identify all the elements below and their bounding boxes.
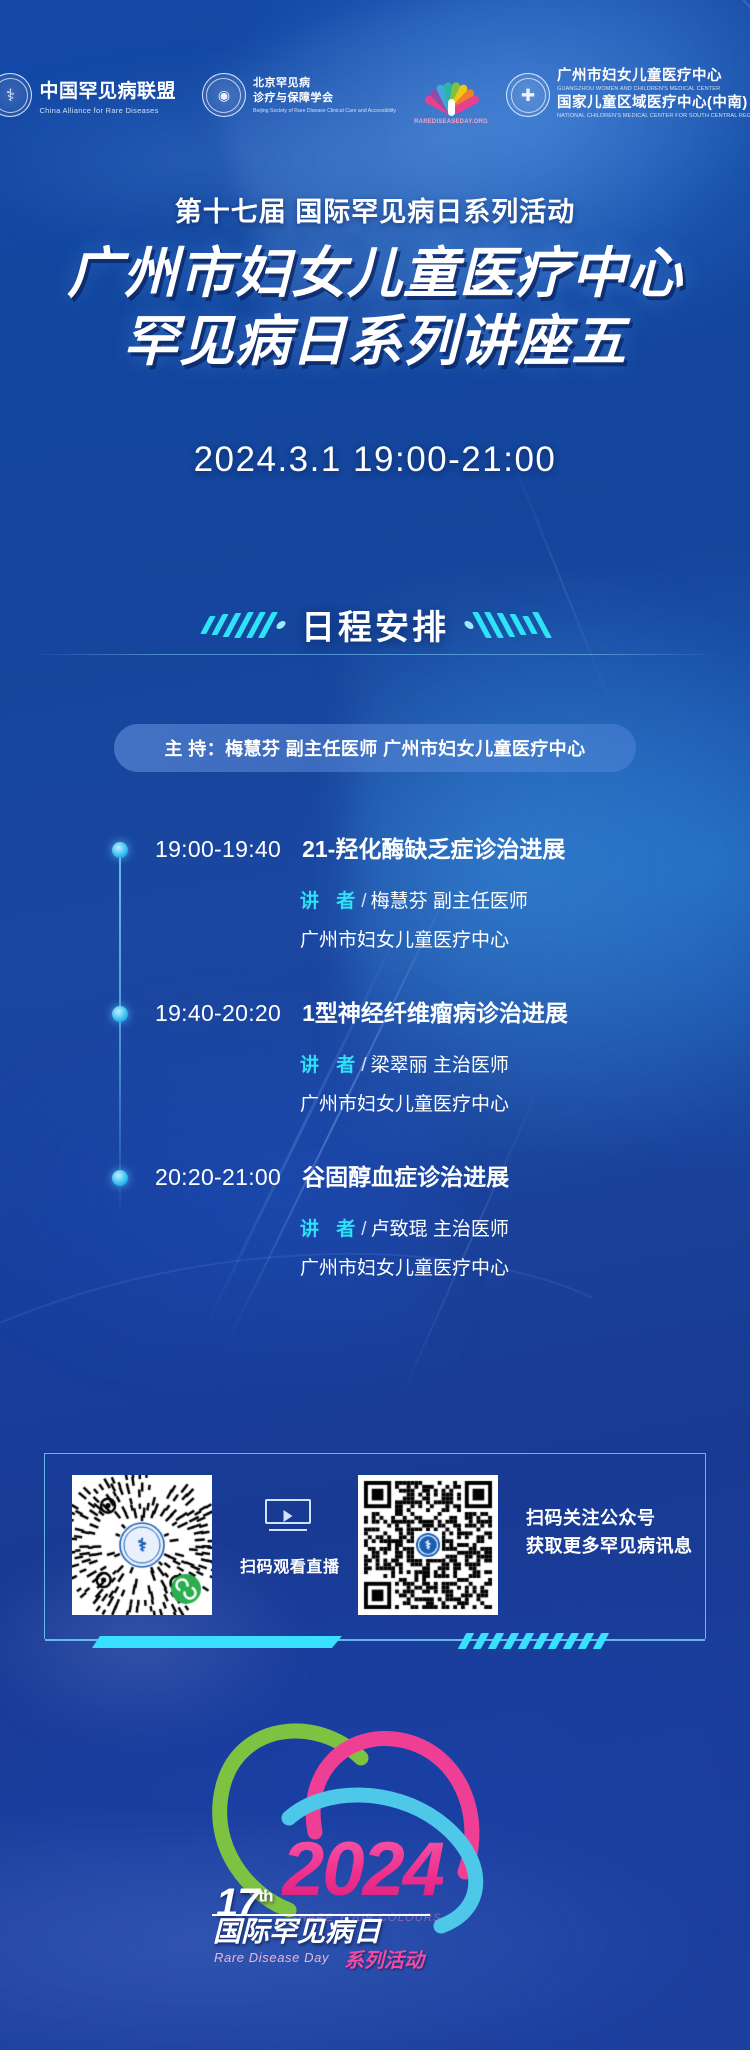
speaker-name: 梁翠丽 主治医师 xyxy=(371,1055,509,1076)
logo-label-cn: 中国罕见病联盟 xyxy=(39,76,176,103)
logo-label-cn-line2: 国家儿童区域医疗中心(中南) xyxy=(557,95,750,112)
logo-label-en: China Alliance for Rare Diseases xyxy=(39,106,176,115)
logo-label-en-line2: NATIONAL CHILDREN'S MEDICAL CENTER FOR S… xyxy=(557,113,750,119)
emblem-en-title: Rare Disease Day xyxy=(214,1950,329,1965)
agenda-item: 20:20-21:00 谷固醇血症诊治进展 讲 者/卢致琨 主治医师 广州市妇女… xyxy=(0,1158,750,1280)
live-stream-label: 扫码观看直播 xyxy=(240,1553,336,1577)
left-stripe-decoration xyxy=(205,612,285,638)
sponsor-logo-bar: ⚕ 中国罕见病联盟 China Alliance for Rare Diseas… xyxy=(0,56,750,134)
agenda-item: 19:40-20:20 1型神经纤维瘤病诊治进展 讲 者/梁翠丽 主治医师 广州… xyxy=(0,994,750,1116)
brain-seal-icon: ◉ xyxy=(202,73,246,117)
event-title-line-2: 罕见病日系列讲座五 xyxy=(0,296,750,376)
agenda-item-time: 20:20-21:00 xyxy=(155,1164,281,1191)
speaker-separator: / xyxy=(361,891,366,912)
live-qr-canvas[interactable] xyxy=(72,1475,212,1615)
timeline-dot-icon xyxy=(112,1170,128,1186)
qr-panel: 扫码观看直播 扫码关注公众号 获取更多罕见病讯息 xyxy=(44,1453,706,1639)
colored-hands-icon: RAREDISEASEDAY.ORG xyxy=(422,69,480,121)
follow-line-1: 扫码关注公众号 xyxy=(526,1505,693,1533)
host-text: 主 持：梅慧芬 副主任医师 广州市妇女儿童医疗中心 xyxy=(164,735,585,761)
speaker-label: 讲 者 xyxy=(300,1055,361,1076)
play-video-icon xyxy=(265,1499,311,1531)
rare-disease-day-url: RAREDISEASEDAY.ORG xyxy=(414,119,488,125)
emblem-cn-title: 国际罕见病日 xyxy=(213,1918,381,1946)
timeline-dot-icon xyxy=(112,1006,128,1022)
speaker-label: 讲 者 xyxy=(300,1219,361,1240)
official-account-qr-code[interactable] xyxy=(358,1475,498,1615)
event-subtitle: 第十七届 国际罕见病日系列活动 xyxy=(0,190,750,229)
rare-disease-day-emblem: 2024 SHARE YOUR COLOURS 17th 国际罕见病日 Rare… xyxy=(0,1700,750,2020)
agenda-item-topic: 21-羟化酶缺乏症诊治进展 xyxy=(302,830,565,864)
frame-notch-right-decoration xyxy=(458,1633,677,1649)
live-stream-qr-code[interactable] xyxy=(72,1475,212,1615)
speaker-label: 讲 者 xyxy=(300,891,361,912)
logo-guangzhou-women-and-childrens-medical-center: ✚ 广州市妇女儿童医疗中心 GUANGZHOU WOMEN AND CHILDR… xyxy=(506,68,750,121)
logo-beijing-society-of-rare-disease: ◉ 北京罕见病 诊疗与保障学会 Beijing Society of Rare … xyxy=(202,73,396,117)
speaker-name: 梅慧芬 副主任医师 xyxy=(371,891,528,912)
section-divider xyxy=(28,654,722,655)
logo-rare-disease-day-hands: RAREDISEASEDAY.ORG xyxy=(422,69,480,121)
follow-cta: 扫码关注公众号 获取更多罕见病讯息 xyxy=(526,1505,693,1561)
timeline-dot-icon xyxy=(112,842,128,858)
agenda-timeline: 19:00-19:40 21-羟化酶缺乏症诊治进展 讲 者/梅慧芬 副主任医师 … xyxy=(0,830,750,1280)
follow-line-2: 获取更多罕见病讯息 xyxy=(526,1533,693,1561)
logo-label-cn-line1: 广州市妇女儿童医疗中心 xyxy=(557,68,750,85)
agenda-item-topic: 1型神经纤维瘤病诊治进展 xyxy=(302,994,568,1028)
logo-label-en-line1: GUANGZHOU WOMEN AND CHILDREN'S MEDICAL C… xyxy=(557,86,750,92)
right-stripe-decoration xyxy=(465,612,545,638)
logo-label-cn-line1: 北京罕见病 xyxy=(253,76,396,91)
speaker-org: 广州市妇女儿童医疗中心 xyxy=(0,1253,750,1280)
agenda-item: 19:00-19:40 21-羟化酶缺乏症诊治进展 讲 者/梅慧芬 副主任医师 … xyxy=(0,830,750,952)
medical-cross-seal-icon: ✚ xyxy=(506,73,550,117)
speaker-org: 广州市妇女儿童医疗中心 xyxy=(0,925,750,952)
agenda-section-title: 日程安排 xyxy=(301,600,449,649)
emblem-series-label: 系列活动 xyxy=(344,1944,424,1973)
agenda-item-time: 19:40-20:20 xyxy=(155,1000,281,1027)
host-pill: 主 持：梅慧芬 副主任医师 广州市妇女儿童医疗中心 xyxy=(114,724,636,772)
live-stream-cta: 扫码观看直播 xyxy=(240,1499,336,1577)
logo-label-en: Beijing Society of Rare Disease Clinical… xyxy=(253,108,396,114)
poster-root: ⚕ 中国罕见病联盟 China Alliance for Rare Diseas… xyxy=(0,0,750,2050)
speaker-name: 卢致琨 主治医师 xyxy=(371,1219,509,1240)
event-datetime: 2024.3.1 19:00-21:00 xyxy=(0,440,750,480)
emblem-year: 2024 xyxy=(282,1832,443,1908)
caduceus-seal-icon: ⚕ xyxy=(0,73,32,117)
diagonal-line-decoration xyxy=(504,441,618,720)
agenda-item-time: 19:00-19:40 xyxy=(155,836,281,863)
speaker-separator: / xyxy=(361,1219,366,1240)
official-qr-canvas[interactable] xyxy=(358,1475,498,1615)
speaker-separator: / xyxy=(361,1055,366,1076)
speaker-org: 广州市妇女儿童医疗中心 xyxy=(0,1089,750,1116)
logo-label-cn-line2: 诊疗与保障学会 xyxy=(253,91,396,106)
frame-notch-left-decoration xyxy=(92,1636,342,1648)
logo-china-alliance-for-rare-diseases: ⚕ 中国罕见病联盟 China Alliance for Rare Diseas… xyxy=(0,73,176,117)
agenda-section-heading: 日程安排 xyxy=(0,600,750,649)
agenda-item-topic: 谷固醇血症诊治进展 xyxy=(302,1158,509,1192)
